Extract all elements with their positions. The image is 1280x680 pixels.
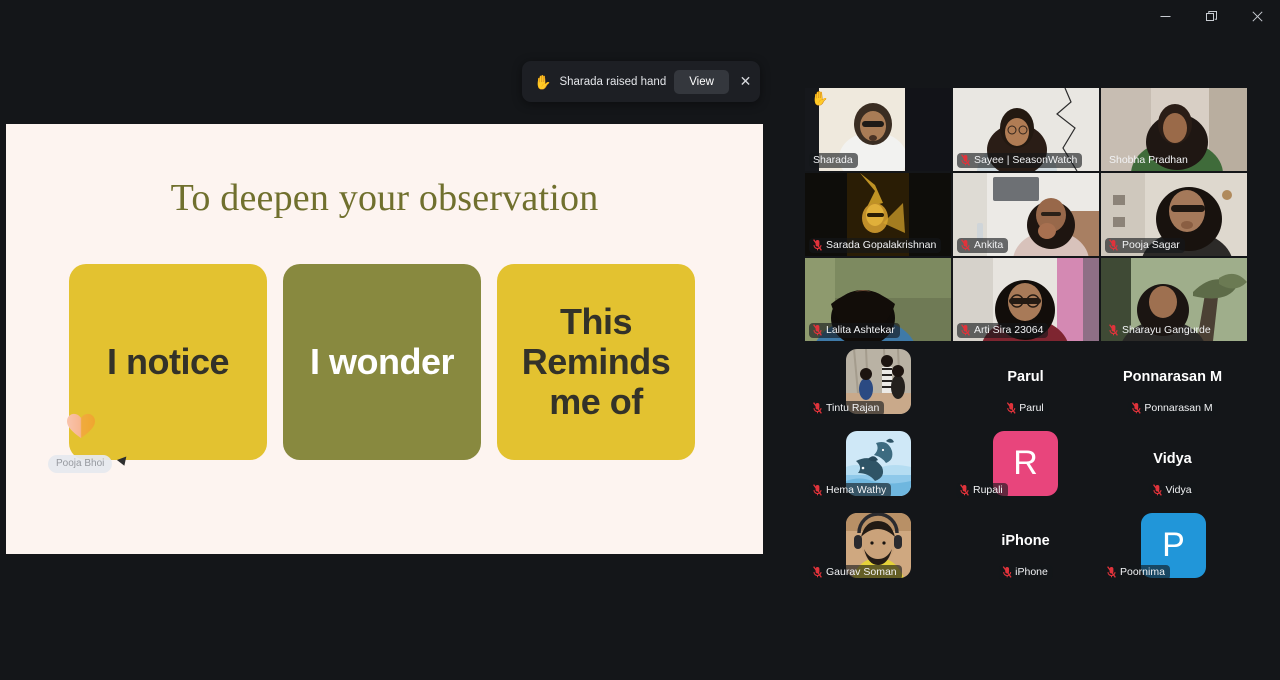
participant-name: Sharayu Gangurde (1105, 323, 1216, 338)
participant-name-label: Ponnarasan M (1144, 402, 1212, 414)
notification-text: Sharada raised hand (559, 76, 666, 88)
participant-name-label: iPhone (1015, 566, 1048, 578)
participant-row: Sarada Gopalakrishnan (805, 173, 1251, 256)
mic-muted-icon (1152, 484, 1161, 496)
card-i-notice: I notice (69, 264, 267, 460)
participant-tile-vidya[interactable]: Vidya Vidya (1099, 425, 1246, 505)
raised-hand-icon: ✋ (534, 75, 551, 89)
mic-muted-icon (813, 324, 822, 336)
participant-display-name: Ponnarasan M (1099, 369, 1246, 385)
participant-name-label: Ankita (974, 239, 1003, 251)
slide-cards: I notice I wonder This Reminds me of (69, 264, 699, 460)
participant-name: Gaurav Soman (809, 565, 902, 580)
mic-muted-icon (1109, 324, 1118, 336)
card-this-reminds-me-of: This Reminds me of (497, 264, 695, 460)
shared-screen-slide[interactable]: To deepen your observation I notice I wo… (6, 124, 763, 554)
mic-muted-icon (961, 324, 970, 336)
restore-button[interactable] (1188, 0, 1234, 32)
mic-muted-icon (960, 484, 969, 496)
participant-name-label: Sarada Gopalakrishnan (826, 239, 936, 251)
participant-name: Pooja Sagar (1105, 238, 1185, 253)
dismiss-notification-button[interactable]: ✕ (737, 69, 754, 95)
participant-name-label: Gaurav Soman (826, 566, 897, 578)
participant-name-label: Sharada (813, 154, 853, 166)
mic-muted-icon (813, 484, 822, 496)
participant-name: Shobha Pradhan (1105, 153, 1193, 168)
participant-row: ✋ Sharada (805, 88, 1251, 171)
participant-name: Vidya (1148, 483, 1196, 498)
participant-row: Gaurav Soman iPhone iPhone P (805, 507, 1251, 587)
participant-row: Tintu Rajan Parul Parul Ponnarasan M (805, 343, 1251, 423)
participant-tile-poornima[interactable]: P Poornima (1099, 507, 1246, 587)
participant-name: Tintu Rajan (809, 401, 884, 416)
participant-name-label: Shobha Pradhan (1109, 154, 1188, 166)
slide-title: To deepen your observation (6, 176, 763, 220)
participant-tile-sarada-gopalakrishnan[interactable]: Sarada Gopalakrishnan (805, 173, 951, 256)
participant-tile-sayee-seasonwatch[interactable]: Sayee | SeasonWatch (953, 88, 1099, 171)
participant-name: Sarada Gopalakrishnan (809, 238, 941, 253)
participant-name-label: Sharayu Gangurde (1122, 324, 1211, 336)
participant-tile-sharayu-gangurde[interactable]: Sharayu Gangurde (1101, 258, 1247, 341)
mic-muted-icon (813, 402, 822, 414)
zoom-meeting-window: To deepen your observation I notice I wo… (0, 0, 1280, 680)
participant-tile-iphone[interactable]: iPhone iPhone (952, 507, 1099, 587)
participant-name: Lalita Ashtekar (809, 323, 900, 338)
participant-tile-hema-wathy[interactable]: Hema Wathy (805, 425, 952, 505)
participant-name: Rupali (956, 483, 1008, 498)
raised-hand-notification[interactable]: ✋ Sharada raised hand View ✕ (522, 61, 760, 102)
participant-name: Sayee | SeasonWatch (957, 153, 1082, 168)
participant-name: Poornima (1103, 565, 1170, 580)
card-i-wonder: I wonder (283, 264, 481, 460)
participant-name-label: Hema Wathy (826, 484, 886, 496)
participant-tile-rupali[interactable]: R Rupali (952, 425, 1099, 505)
participant-name: Sharada (809, 153, 858, 168)
mic-muted-icon (1107, 566, 1116, 578)
mic-muted-icon (1002, 566, 1011, 578)
mic-muted-icon (1131, 402, 1140, 414)
close-button[interactable] (1234, 0, 1280, 32)
participant-display-name: Parul (952, 369, 1099, 385)
mic-muted-icon (813, 566, 822, 578)
participant-tile-shobha-pradhan[interactable]: Shobha Pradhan (1101, 88, 1247, 171)
participant-display-name: Vidya (1099, 451, 1246, 467)
participant-tile-ponnarasan-m[interactable]: Ponnarasan M Ponnarasan M (1099, 343, 1246, 423)
participant-name-label: Vidya (1165, 484, 1191, 496)
mic-muted-icon (813, 239, 822, 251)
minimize-icon (1160, 11, 1171, 22)
participant-name: Ponnarasan M (1127, 401, 1217, 416)
participant-tile-pooja-sagar[interactable]: Pooja Sagar (1101, 173, 1247, 256)
participant-name-label: Parul (1019, 402, 1044, 414)
participant-name-label: Pooja Sagar (1122, 239, 1180, 251)
close-icon (1252, 11, 1263, 22)
participant-row: Hema Wathy R Rupali Vidya (805, 425, 1251, 505)
window-titlebar (0, 0, 1280, 32)
participant-name: Parul (1002, 401, 1049, 416)
participant-name: Hema Wathy (809, 483, 891, 498)
participant-tile-gaurav-soman[interactable]: Gaurav Soman (805, 507, 952, 587)
participant-name-label: Tintu Rajan (826, 402, 879, 414)
participant-display-name: iPhone (952, 533, 1099, 549)
remote-cursor-icon (117, 457, 129, 468)
participant-name-label: Poornima (1120, 566, 1165, 578)
mic-muted-icon (961, 239, 970, 251)
participant-row: Lalita Ashtekar (805, 258, 1251, 341)
participant-name-label: Lalita Ashtekar (826, 324, 895, 336)
participant-tile-sharada[interactable]: ✋ Sharada (805, 88, 951, 171)
participant-tile-ankita[interactable]: Ankita (953, 173, 1099, 256)
view-raised-hand-button[interactable]: View (674, 70, 729, 94)
participant-name-label: Sayee | SeasonWatch (974, 154, 1077, 166)
participant-tile-parul[interactable]: Parul Parul (952, 343, 1099, 423)
raised-hand-icon: ✋ (811, 91, 828, 105)
participant-name-label: Rupali (973, 484, 1003, 496)
participant-tile-arti-sira[interactable]: Arti Sira 23064 (953, 258, 1099, 341)
mic-muted-icon (961, 154, 970, 166)
participant-grid: ✋ Sharada (805, 88, 1251, 589)
minimize-button[interactable] (1142, 0, 1188, 32)
participant-name: iPhone (998, 565, 1053, 580)
restore-icon (1206, 11, 1217, 22)
participant-tile-lalita-ashtekar[interactable]: Lalita Ashtekar (805, 258, 951, 341)
mic-muted-icon (1006, 402, 1015, 414)
participant-name: Arti Sira 23064 (957, 323, 1048, 338)
participant-name-label: Arti Sira 23064 (974, 324, 1043, 336)
participant-name: Ankita (957, 238, 1008, 253)
participant-tile-tintu-rajan[interactable]: Tintu Rajan (805, 343, 952, 423)
mic-muted-icon (1109, 239, 1118, 251)
remote-cursor-label: Pooja Bhoi (48, 455, 112, 473)
